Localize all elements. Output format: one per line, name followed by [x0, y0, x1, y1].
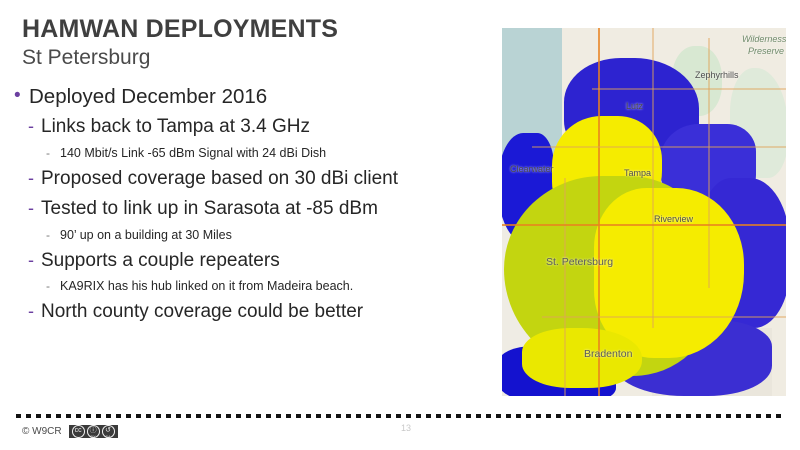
map-label: Preserve	[748, 46, 784, 56]
list-item: - Tested to link up in Sarasota at -85 d…	[14, 196, 484, 223]
list-item: - 140 Mbit/s Link -65 dBm Signal with 24…	[14, 144, 484, 163]
list-item-label: Links back to Tampa at 3.4 GHz	[41, 114, 484, 141]
list-item-label: 90’ up on a building at 30 Miles	[60, 226, 484, 245]
list-item-label: KA9RIX has his hub linked on it from Mad…	[60, 277, 484, 296]
map-label: Tampa	[624, 168, 651, 178]
cc-by-caption: BY	[88, 433, 99, 442]
map-label: Lutz	[626, 101, 643, 111]
copyright-label: © W9CR	[22, 426, 62, 437]
map-label: Riverview	[654, 214, 693, 224]
cc-sa-icon: ↺ SA	[102, 425, 115, 438]
dash-marker-icon: -	[28, 302, 41, 320]
dash-marker-icon: -	[46, 147, 60, 159]
page-title: HAMWAN DEPLOYMENTS	[22, 16, 472, 43]
dash-marker-icon: -	[46, 280, 60, 292]
map-label: Clearwater	[510, 164, 554, 174]
list-item-label: Tested to link up in Sarasota at -85 dBm	[41, 196, 484, 223]
list-item-label: North county coverage could be better	[41, 299, 484, 326]
creative-commons-badge: cc ⓘ BY ↺ SA	[69, 425, 118, 438]
footer-credits: © W9CR cc ⓘ BY ↺ SA	[22, 425, 118, 438]
dash-marker-icon: -	[46, 229, 60, 241]
cc-icon: cc	[72, 425, 85, 438]
dash-marker-icon: -	[28, 199, 41, 217]
list-item: - Links back to Tampa at 3.4 GHz	[14, 114, 484, 141]
map-road	[502, 224, 786, 226]
page-subtitle: St Petersburg	[22, 45, 472, 70]
list-item: - 90’ up on a building at 30 Miles	[14, 226, 484, 245]
page-number: 13	[396, 423, 416, 433]
list-item-label: Supports a couple repeaters	[41, 248, 484, 275]
coverage-map-image: Wilderness Preserve Zephyrhills Lutz Cle…	[502, 28, 786, 396]
cc-sa-caption: SA	[103, 433, 114, 442]
list-item: - Proposed coverage based on 30 dBi clie…	[14, 166, 484, 193]
list-item: • Deployed December 2016	[14, 82, 484, 111]
bullet-marker-icon: •	[14, 86, 29, 105]
dash-marker-icon: -	[28, 169, 41, 187]
map-road	[592, 88, 786, 90]
dash-marker-icon: -	[28, 117, 41, 135]
title-block: HAMWAN DEPLOYMENTS St Petersburg	[22, 16, 472, 70]
list-item-label: Proposed coverage based on 30 dBi client	[41, 166, 484, 193]
cc-by-icon: ⓘ BY	[87, 425, 100, 438]
map-road	[598, 28, 600, 396]
map-label: Wilderness	[742, 34, 786, 44]
map-road	[542, 316, 786, 318]
footer-divider	[16, 414, 782, 418]
dash-marker-icon: -	[28, 251, 41, 269]
map-label: Zephyrhills	[695, 70, 739, 80]
map-road	[652, 28, 654, 328]
list-item: - North county coverage could be better	[14, 299, 484, 326]
map-road	[532, 146, 786, 148]
list-item: - Supports a couple repeaters	[14, 248, 484, 275]
bullet-list: • Deployed December 2016 - Links back to…	[14, 80, 484, 326]
list-item-label: 140 Mbit/s Link -65 dBm Signal with 24 d…	[60, 144, 484, 163]
map-label: Bradenton	[584, 348, 632, 360]
list-item-label: Deployed December 2016	[29, 82, 484, 111]
map-road	[564, 178, 566, 396]
list-item: - KA9RIX has his hub linked on it from M…	[14, 277, 484, 296]
map-label: St. Petersburg	[546, 256, 613, 268]
